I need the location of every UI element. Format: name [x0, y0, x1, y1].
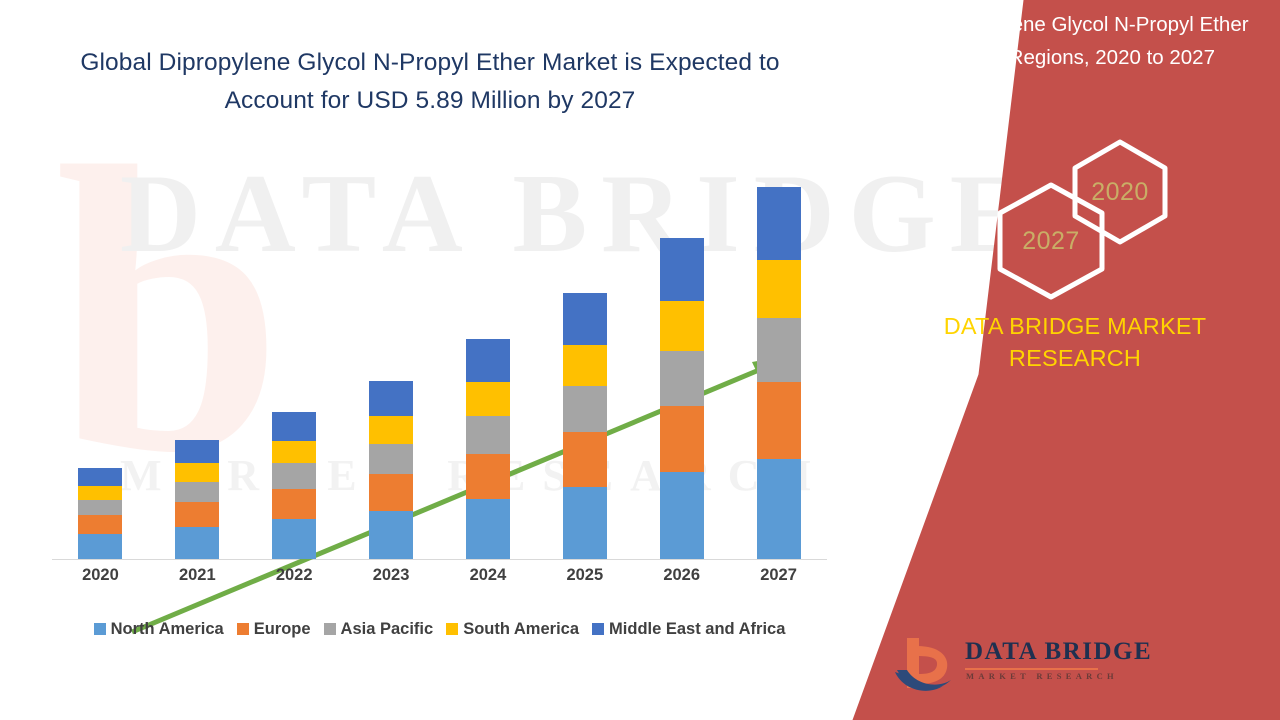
bar-segment[interactable]: [369, 416, 413, 443]
bar-2022[interactable]: [272, 412, 316, 559]
bar-segment[interactable]: [563, 345, 607, 386]
bar-segment[interactable]: [757, 187, 801, 260]
bar-segment[interactable]: [272, 489, 316, 519]
x-axis-label-2024: 2024: [458, 566, 518, 585]
logo-name: DATA BRIDGE: [965, 638, 1152, 666]
legend-swatch-icon: [237, 623, 249, 635]
bar-segment[interactable]: [78, 500, 122, 516]
chart-plot-area: [52, 170, 827, 560]
bar-2026[interactable]: [660, 238, 704, 559]
bar-segment[interactable]: [660, 351, 704, 406]
bar-segment[interactable]: [563, 293, 607, 345]
legend-label: Asia Pacific: [341, 620, 434, 639]
bar-segment[interactable]: [78, 515, 122, 534]
bar-2025[interactable]: [563, 293, 607, 559]
panel-title: Global Dipropylene Glycol N-Propyl Ether…: [860, 8, 1260, 74]
legend-label: North America: [111, 620, 224, 639]
bar-segment[interactable]: [78, 468, 122, 486]
hexagon-badges: 2027 2020: [992, 138, 1192, 273]
company-logo: DATA BRIDGE MARKET RESEARCH: [893, 632, 1103, 700]
x-axis-labels: 20202021202220232024202520262027: [52, 566, 827, 592]
x-axis-label-2026: 2026: [652, 566, 712, 585]
legend-item[interactable]: Asia Pacific: [324, 620, 434, 639]
bar-segment[interactable]: [78, 534, 122, 559]
chart-legend: North AmericaEuropeAsia PacificSouth Ame…: [52, 617, 827, 641]
bar-2024[interactable]: [466, 339, 510, 559]
bar-segment[interactable]: [466, 454, 510, 499]
bar-segment[interactable]: [563, 487, 607, 559]
bar-segment[interactable]: [175, 502, 219, 527]
bar-segment[interactable]: [563, 432, 607, 487]
bar-segment[interactable]: [369, 474, 413, 511]
bar-segment[interactable]: [757, 382, 801, 459]
bar-segment[interactable]: [660, 301, 704, 351]
bar-segment[interactable]: [272, 412, 316, 441]
legend-label: South America: [463, 620, 579, 639]
bar-2021[interactable]: [175, 440, 219, 559]
legend-swatch-icon: [324, 623, 336, 635]
bar-segment[interactable]: [78, 486, 122, 500]
brand-text: DATA BRIDGE MARKET RESEARCH: [905, 310, 1245, 374]
bar-segment[interactable]: [272, 463, 316, 488]
legend-item[interactable]: Middle East and Africa: [592, 620, 785, 639]
bar-segment[interactable]: [175, 482, 219, 502]
legend-label: Europe: [254, 620, 311, 639]
bar-segment[interactable]: [757, 260, 801, 318]
bar-segment[interactable]: [660, 238, 704, 301]
legend-swatch-icon: [592, 623, 604, 635]
bar-segment[interactable]: [660, 406, 704, 472]
x-axis-line: [52, 559, 827, 560]
legend-item[interactable]: North America: [94, 620, 224, 639]
x-axis-label-2023: 2023: [361, 566, 421, 585]
bar-segment[interactable]: [369, 511, 413, 559]
bar-2027[interactable]: [757, 187, 801, 559]
x-axis-label-2027: 2027: [749, 566, 809, 585]
legend-item[interactable]: Europe: [237, 620, 311, 639]
bar-segment[interactable]: [175, 463, 219, 481]
data-bridge-mark-icon: [893, 632, 963, 698]
bar-segment[interactable]: [175, 527, 219, 559]
bar-segment[interactable]: [369, 444, 413, 474]
bar-segment[interactable]: [175, 440, 219, 463]
bar-segment[interactable]: [369, 381, 413, 416]
bar-segment[interactable]: [272, 519, 316, 559]
legend-label: Middle East and Africa: [609, 620, 785, 639]
bar-segment[interactable]: [466, 499, 510, 559]
legend-swatch-icon: [446, 623, 458, 635]
x-axis-label-2022: 2022: [264, 566, 324, 585]
bar-2020[interactable]: [78, 468, 122, 559]
bar-segment[interactable]: [563, 386, 607, 432]
bar-segment[interactable]: [466, 416, 510, 454]
hexagon-2020-label: 2020: [1091, 178, 1149, 207]
bar-segment[interactable]: [272, 441, 316, 464]
bar-segment[interactable]: [466, 382, 510, 416]
bar-2023[interactable]: [369, 381, 413, 559]
slide-canvas: b DATA BRIDGE MARKET RESEARCH Global Dip…: [0, 0, 1280, 720]
logo-divider: [965, 668, 1098, 670]
bar-segment[interactable]: [757, 459, 801, 559]
x-axis-label-2020: 2020: [70, 566, 130, 585]
bar-segment[interactable]: [660, 472, 704, 559]
legend-item[interactable]: South America: [446, 620, 579, 639]
hexagon-2020-badge: 2020: [1068, 138, 1172, 246]
legend-swatch-icon: [94, 623, 106, 635]
bar-segment[interactable]: [757, 318, 801, 382]
x-axis-label-2021: 2021: [167, 566, 227, 585]
x-axis-label-2025: 2025: [555, 566, 615, 585]
bar-segment[interactable]: [466, 339, 510, 382]
logo-tagline: MARKET RESEARCH: [966, 671, 1118, 681]
chart-title: Global Dipropylene Glycol N-Propyl Ether…: [60, 44, 800, 120]
